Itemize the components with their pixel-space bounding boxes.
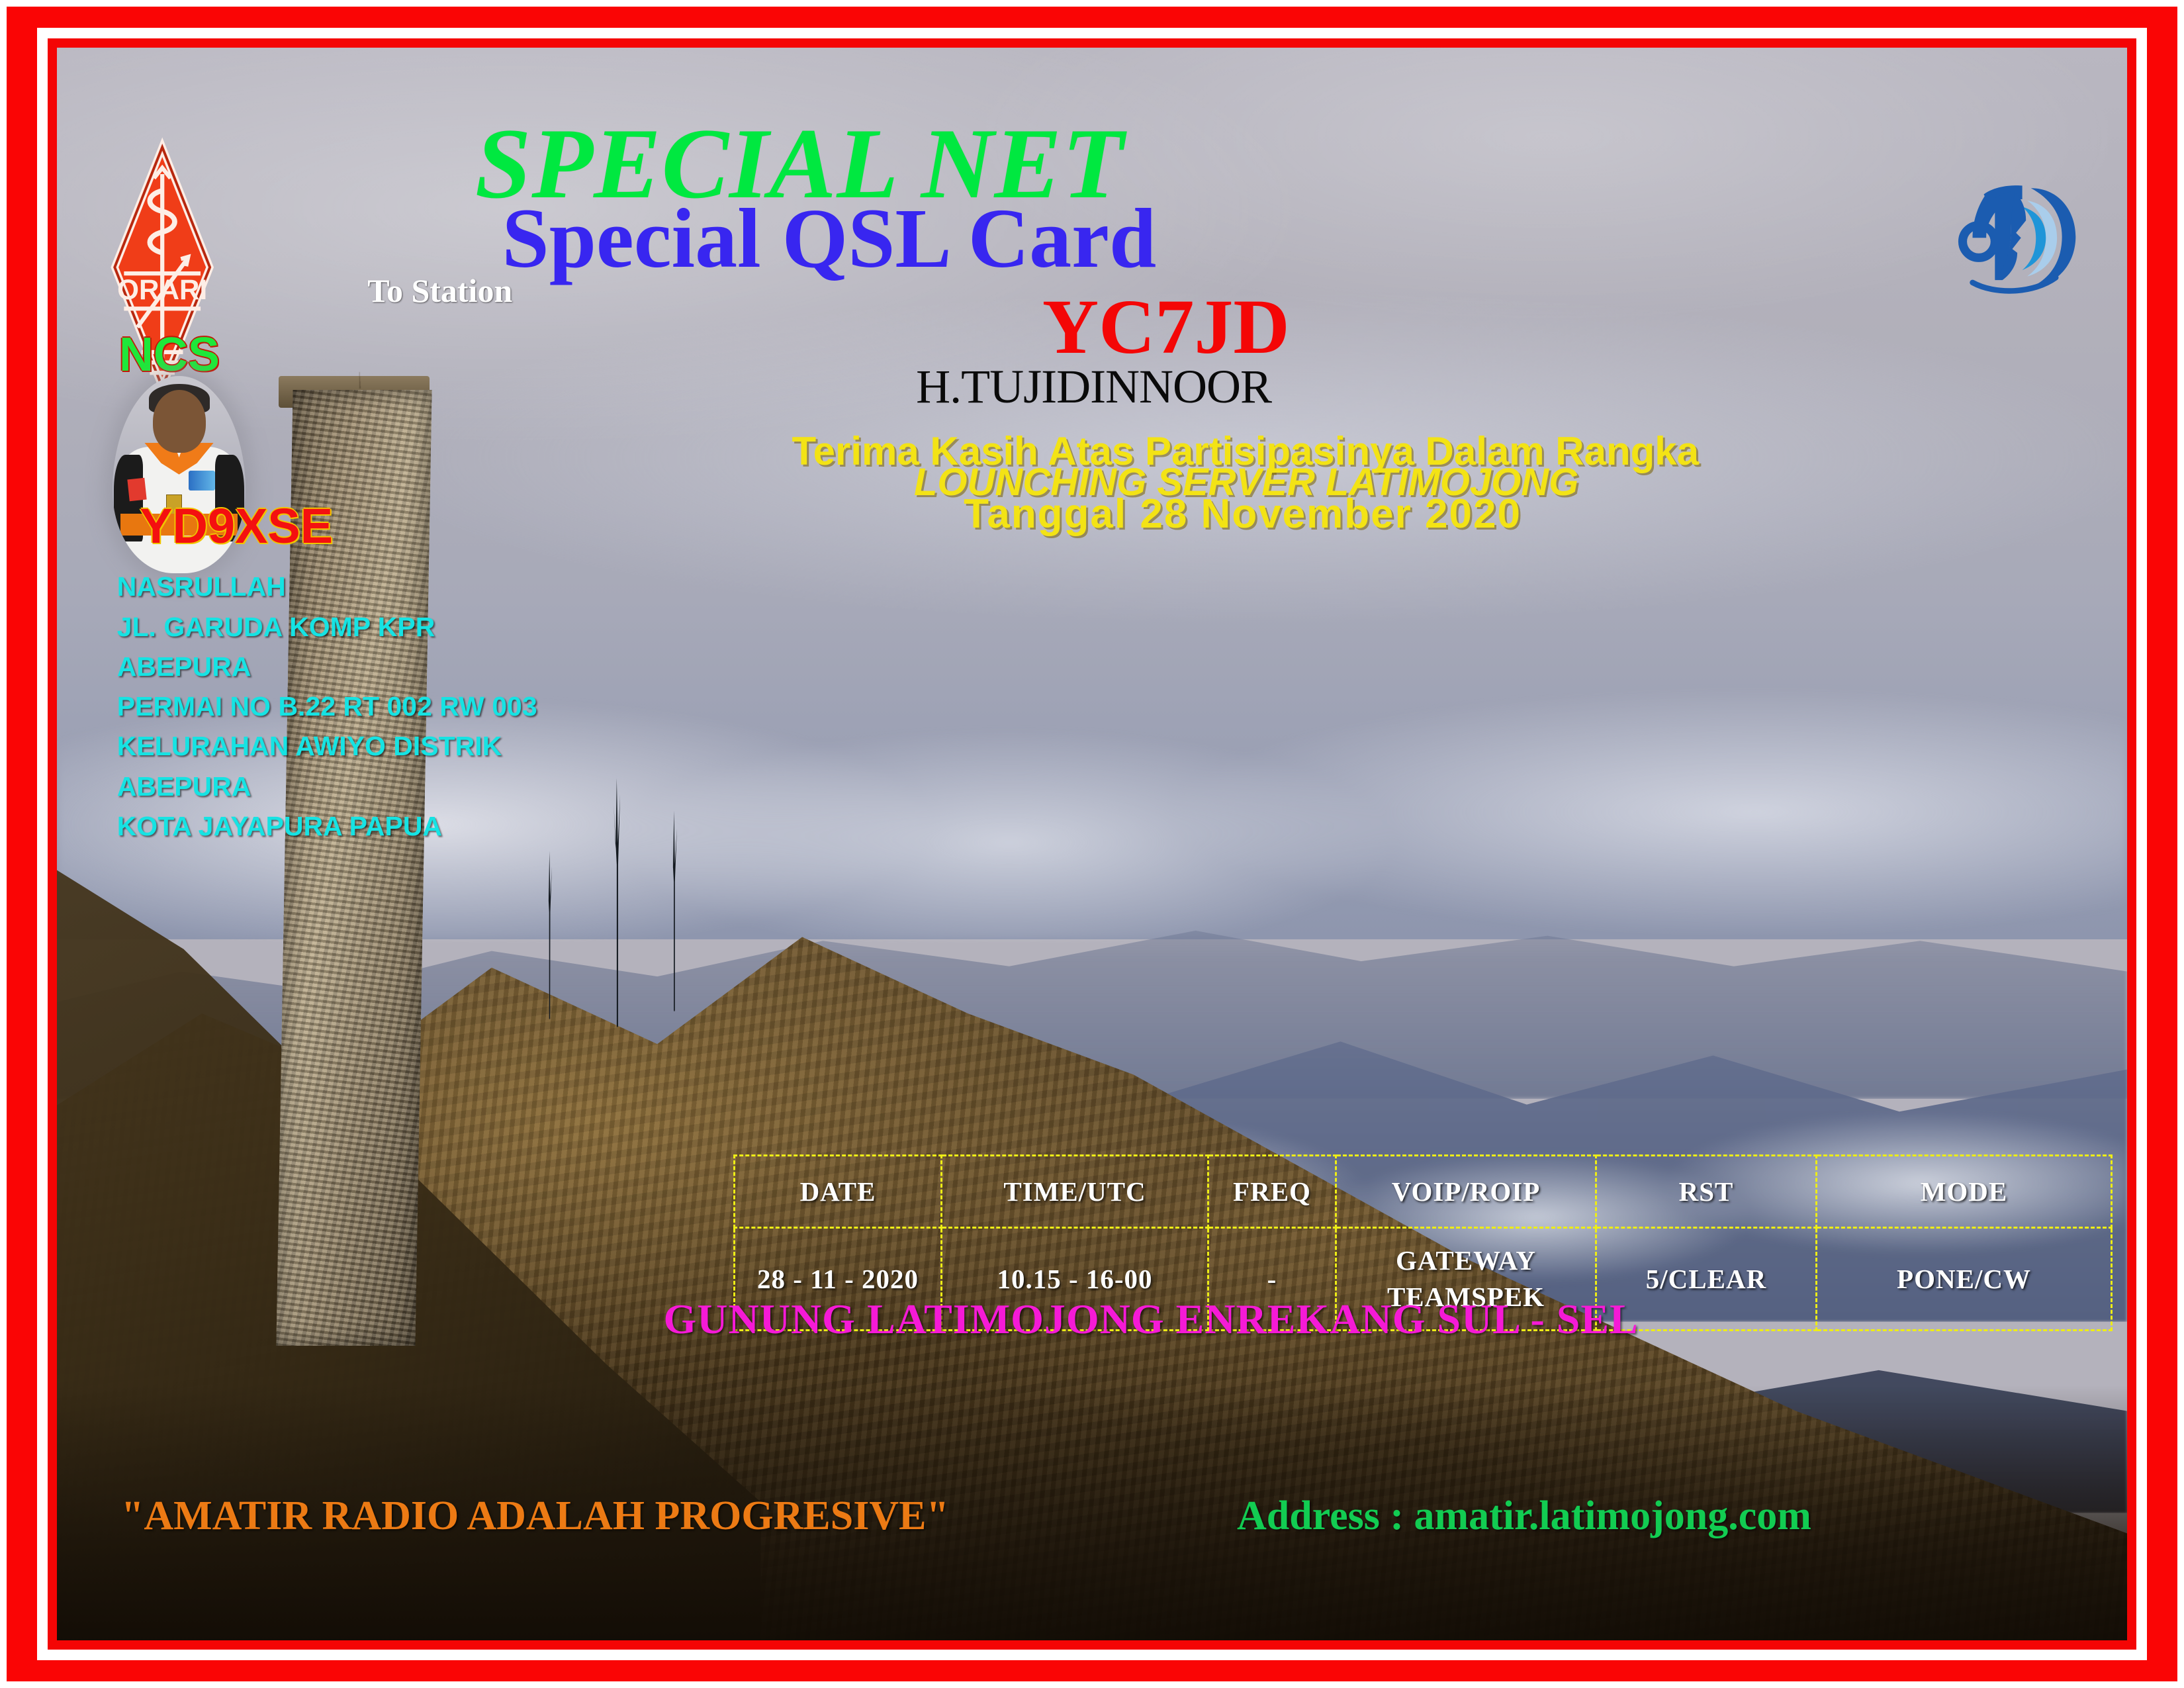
location-text: GUNUNG LATIMOJONG ENREKANG SUL - SEL <box>664 1298 1639 1340</box>
headset-icon <box>1958 92 2082 379</box>
return-address-block: NASRULLAH JL. GARUDA KOMP KPR ABEPURA PE… <box>117 567 537 846</box>
footer-slogan: "AMATIR RADIO ADALAH PROGRESIVE" <box>121 1495 949 1536</box>
page-subtitle: Special QSL Card <box>502 196 1157 281</box>
address-line: PERMAI NO B.22 RT 002 RW 003 <box>117 686 537 726</box>
table-header-voip: VOIP/ROIP <box>1336 1156 1596 1228</box>
address-line: KOTA JAYAPURA PAPUA <box>117 806 537 846</box>
table-cell-mode: PONE/CW <box>1817 1228 2112 1331</box>
orari-logo-text: ORARI <box>117 274 207 305</box>
table-header-mode: MODE <box>1817 1156 2112 1228</box>
avatar-head <box>153 390 206 453</box>
station-callsign: YC7JD <box>1042 288 1290 366</box>
address-line: JL. GARUDA KOMP KPR <box>117 607 537 647</box>
table-header-rst: RST <box>1596 1156 1817 1228</box>
headset-profile-logo <box>1958 92 2082 379</box>
address-line: NASRULLAH <box>117 567 537 606</box>
event-line-3: Tanggal 28 November 2020 <box>964 494 1522 535</box>
address-line: ABEPURA <box>117 647 537 686</box>
to-station-label: To Station <box>367 274 512 307</box>
table-header-time: TIME/UTC <box>942 1156 1208 1228</box>
table-header-row: DATE TIME/UTC FREQ VOIP/ROIP RST MODE <box>735 1156 2112 1228</box>
qsl-card: ORARI SPECIAL NET Special QSL Card <box>0 0 2184 1688</box>
ncs-label: NCS <box>119 331 220 379</box>
avatar-chest-logo <box>189 471 215 491</box>
table-header-date: DATE <box>735 1156 942 1228</box>
avatar-shoulder-patch <box>128 477 147 500</box>
background-photo: ORARI SPECIAL NET Special QSL Card <box>57 48 2127 1640</box>
footer-web-address: Address : amatir.latimojong.com <box>1237 1495 1811 1536</box>
address-line: KELURAHAN AWIYO DISTRIK <box>117 726 537 766</box>
ncs-callsign: YD9XSE <box>140 502 333 551</box>
address-line: ABEPURA <box>117 767 537 806</box>
table-header-freq: FREQ <box>1208 1156 1336 1228</box>
monument-grass-tuft <box>359 341 434 389</box>
operator-name: H.TUJIDINNOOR <box>916 363 1271 410</box>
